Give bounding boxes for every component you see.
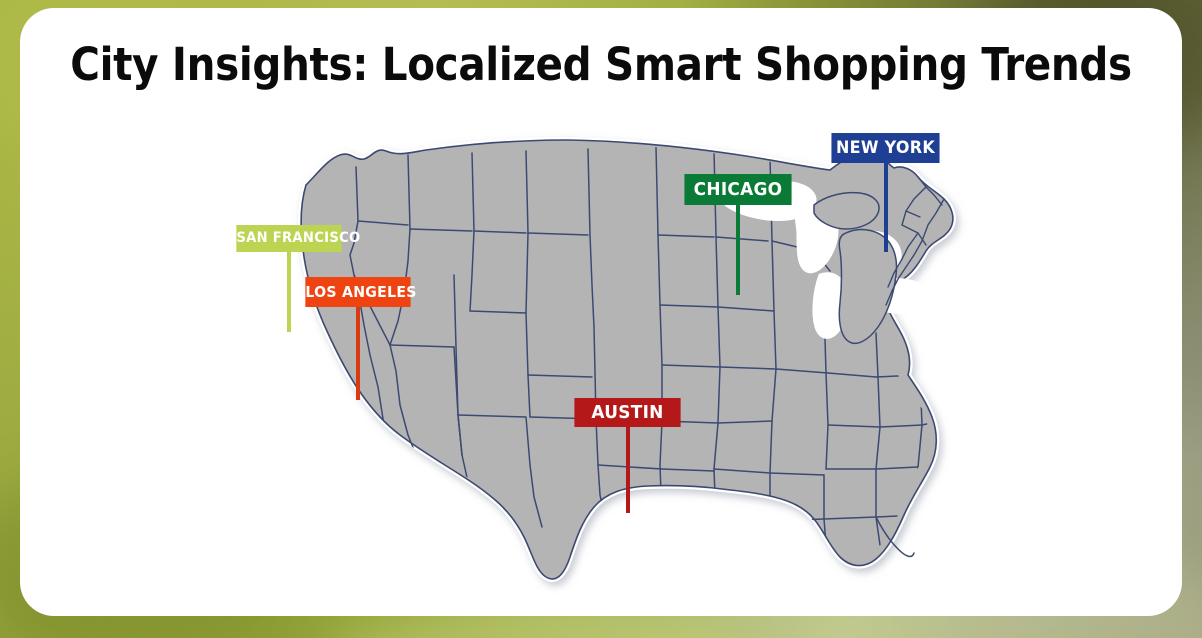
marker-stem-los-angeles (356, 307, 360, 400)
marker-label-austin: AUSTIN (574, 398, 680, 427)
slide-root: City Insights: Localized Smart Shopping … (0, 0, 1202, 638)
marker-austin[interactable]: AUSTIN (571, 398, 684, 427)
marker-label-chicago: CHICAGO (684, 174, 791, 205)
marker-stem-new-york (884, 163, 888, 252)
marker-stem-chicago (736, 205, 740, 295)
marker-stem-austin (626, 427, 630, 513)
marker-label-san-francisco: SAN FRANCISCO (236, 225, 341, 252)
us-map (258, 125, 978, 605)
marker-new-york[interactable]: NEW YORK (828, 133, 943, 163)
us-map-svg (258, 125, 978, 605)
marker-label-los-angeles: LOS ANGELES (305, 277, 410, 307)
marker-san-francisco[interactable]: SAN FRANCISCO (233, 225, 345, 252)
marker-chicago[interactable]: CHICAGO (681, 174, 795, 205)
page-title: City Insights: Localized Smart Shopping … (60, 38, 1142, 91)
marker-los-angeles[interactable]: LOS ANGELES (302, 277, 414, 307)
marker-stem-san-francisco (287, 252, 291, 332)
marker-label-new-york: NEW YORK (831, 133, 939, 163)
